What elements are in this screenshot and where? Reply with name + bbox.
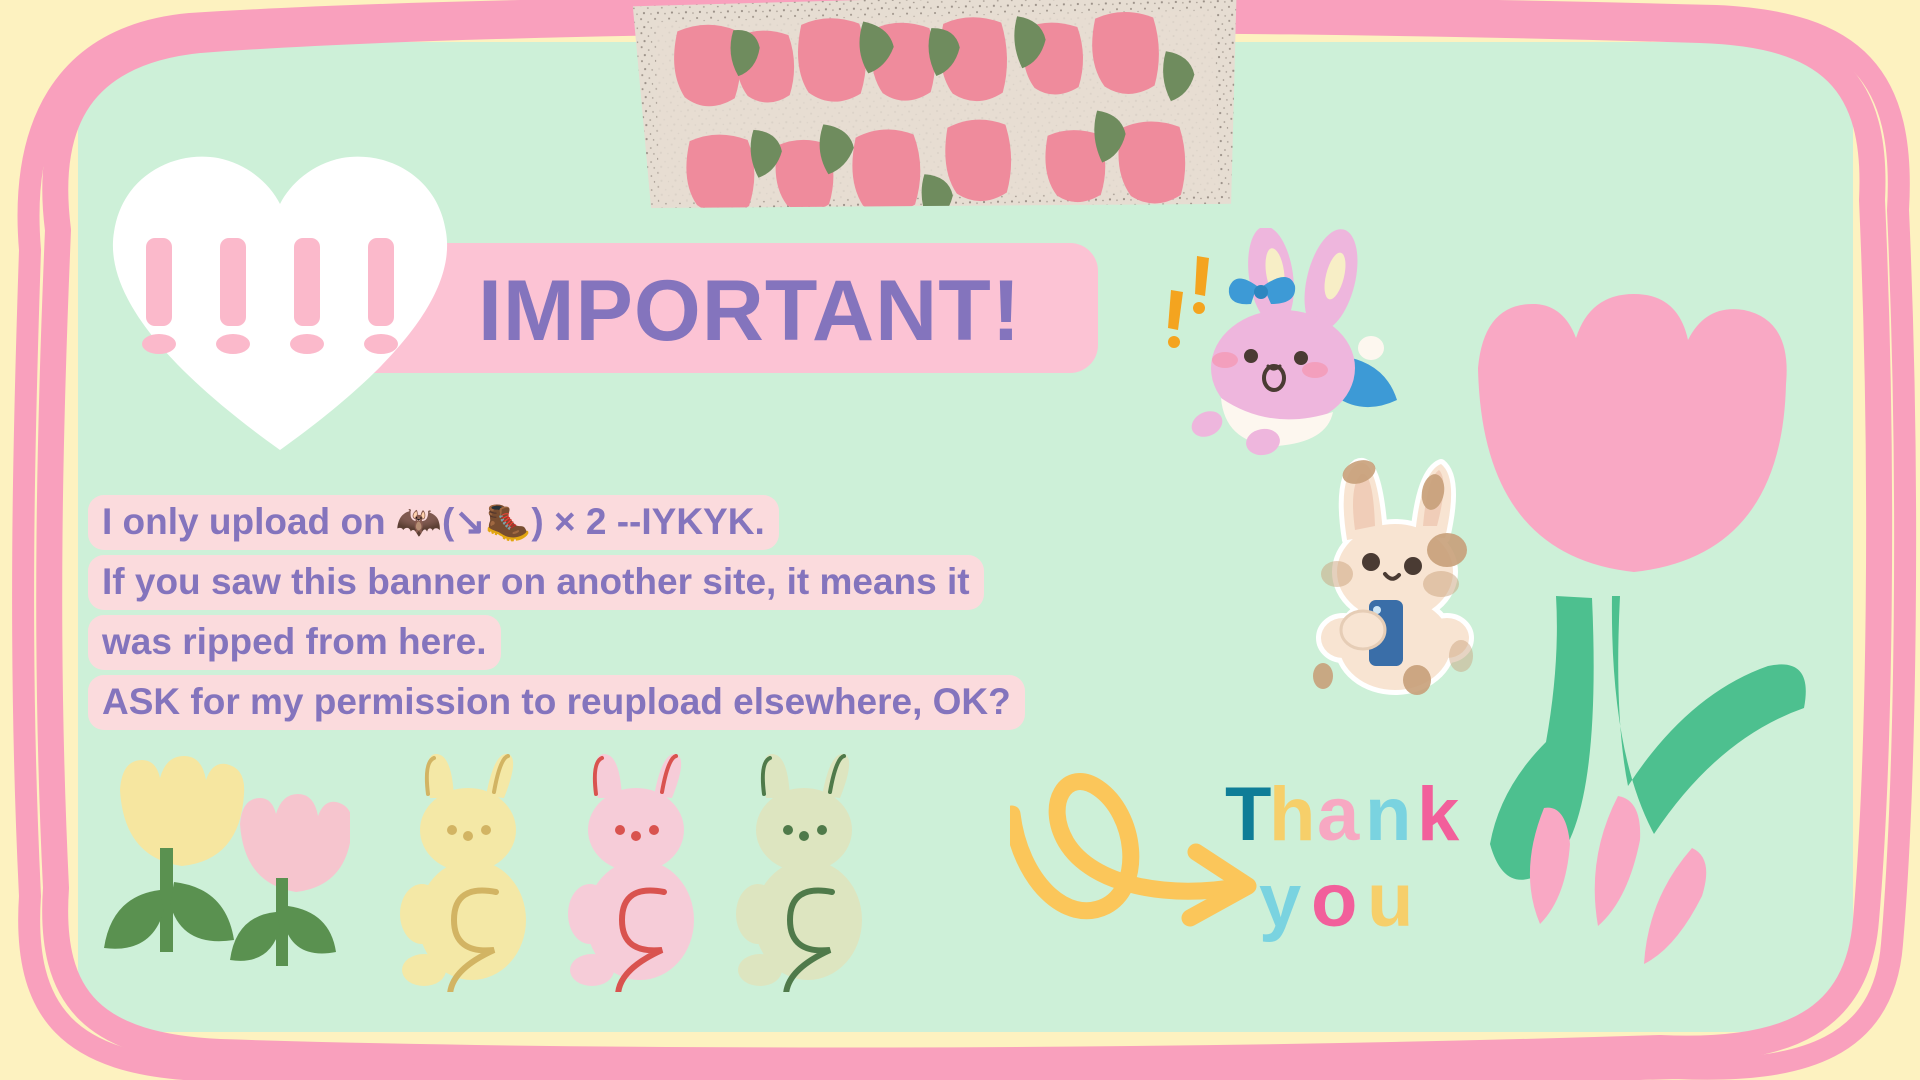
small-tulips-sticker — [100, 752, 350, 992]
letter-n: n — [1365, 772, 1411, 857]
flying-bunny-sticker — [1165, 228, 1415, 478]
notice-line: was ripped from here. — [88, 612, 1025, 672]
heart-badge — [100, 140, 460, 460]
letter-o: o — [1311, 858, 1357, 943]
notice-text-block: I only upload on 🦇(↘🥾) × 2 --IYKYK. If y… — [88, 492, 1025, 732]
notice-line: If you saw this banner on another site, … — [88, 552, 1025, 612]
bunny-cookie-pink — [568, 754, 694, 992]
banner-root: IMPORTANT! I only upload on 🦇(↘🥾) × 2 --… — [0, 0, 1920, 1080]
notice-line: I only upload on 🦇(↘🥾) × 2 --IYKYK. — [88, 492, 1025, 552]
letter-y: y — [1259, 858, 1301, 943]
bunny-cookie-green — [736, 754, 862, 992]
phone-bunny-sticker — [1295, 452, 1495, 702]
letter-u: u — [1367, 858, 1413, 943]
letter-a: a — [1317, 772, 1360, 857]
page-title: IMPORTANT! — [478, 262, 1021, 361]
thank-you-lettering: T h a n k y o u — [1225, 768, 1525, 968]
washi-tape — [625, 0, 1250, 224]
exclamation-accents — [1168, 256, 1209, 348]
yellow-tulip — [104, 756, 244, 952]
pink-tulip — [230, 794, 350, 966]
letter-k: k — [1417, 772, 1460, 857]
notice-line: ASK for my permission to reupload elsewh… — [88, 672, 1025, 732]
letter-T: T — [1225, 772, 1271, 857]
tulip-petals — [1478, 294, 1787, 572]
letter-h: h — [1269, 772, 1315, 857]
bunny-cookies-sticker — [400, 752, 920, 992]
bunny-cookie-yellow — [400, 754, 526, 992]
fallen-petals — [1530, 796, 1706, 964]
